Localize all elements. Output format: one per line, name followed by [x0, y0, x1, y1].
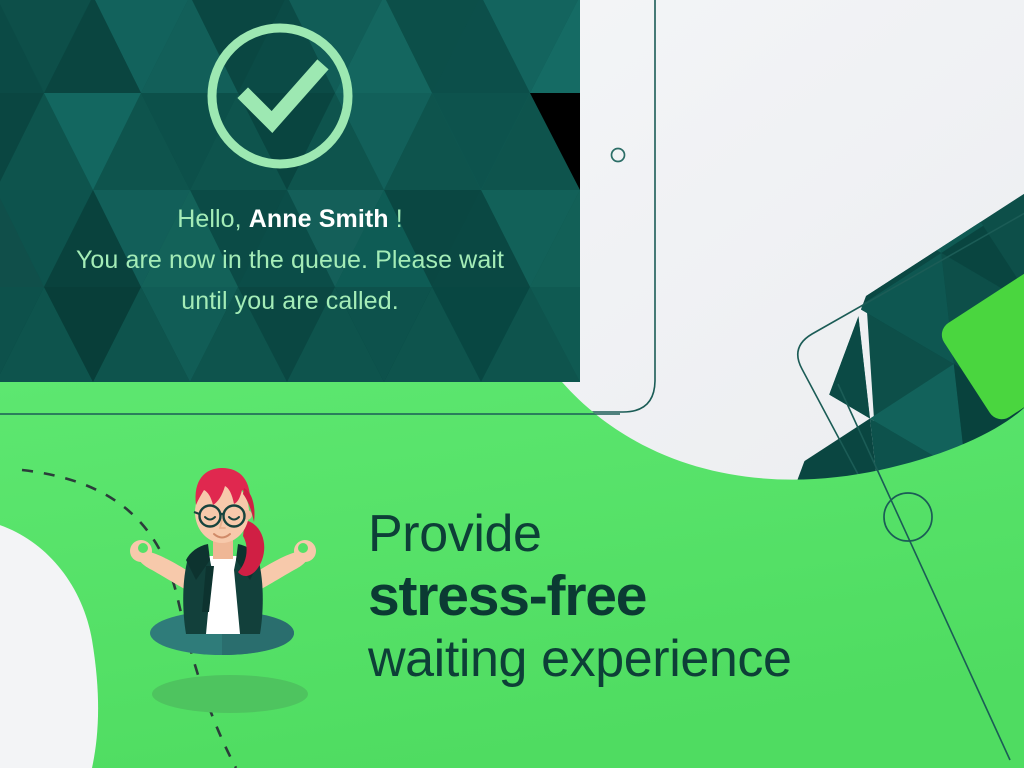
- left-mudra-hole: [138, 543, 148, 553]
- marketing-headline: Provide stress-free waiting experience: [368, 508, 988, 685]
- headline-line-3: waiting experience: [368, 633, 988, 685]
- headline-line-1: Provide: [368, 508, 988, 560]
- character-shadow: [152, 675, 308, 713]
- headline-line-2: stress-free: [368, 568, 988, 625]
- right-mudra-hole: [298, 543, 308, 553]
- promo-scene: Hello, Anne Smith ! You are now in the q…: [0, 0, 1024, 768]
- tablet-front-screen: [0, 0, 580, 382]
